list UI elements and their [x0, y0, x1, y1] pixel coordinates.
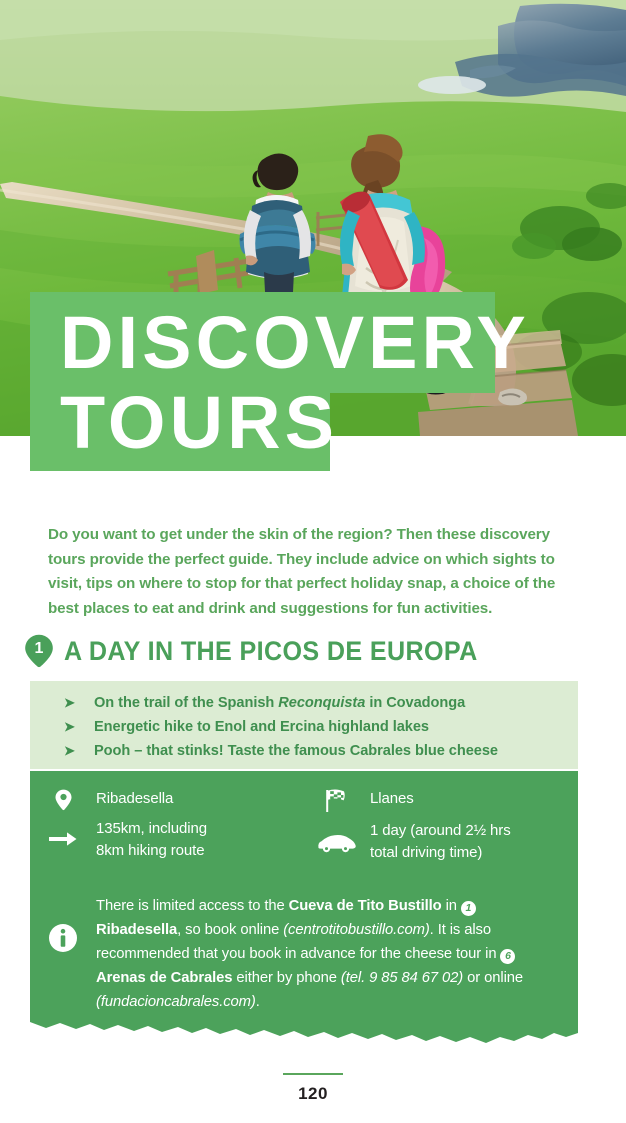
tour-booking-note: There is limited access to the Cueva de …	[30, 895, 578, 1015]
tour-highlights-box: ➤ On the trail of the Spanish Reconquist…	[30, 681, 578, 769]
info-circle-icon	[30, 895, 96, 953]
inline-number-chip-1: 1	[461, 901, 476, 916]
highlight-item-text: Energetic hike to Enol and Ercina highla…	[94, 716, 429, 738]
arrow-right-glyph	[49, 831, 77, 847]
map-pin-number: 1	[24, 636, 54, 662]
map-pin-icon: 1	[24, 634, 54, 668]
tour-facts-right-column: Llanes 1 day (around 2½ hrs	[304, 787, 578, 869]
fact-distance: 135km, including 8km hiking route	[30, 817, 304, 861]
footer-divider	[283, 1073, 343, 1075]
fact-finish-point: Llanes	[304, 787, 578, 813]
checkered-flag-glyph	[324, 789, 350, 813]
car-glyph	[317, 833, 357, 853]
tour-section-title: A Day in the Picos de Europa	[64, 636, 478, 667]
fact-distance-text: 135km, including 8km hiking route	[96, 817, 207, 861]
fact-finish-label: Llanes	[370, 787, 414, 810]
fact-start-point: Ribadesella	[30, 787, 304, 811]
fact-duration-line2: total driving time)	[370, 844, 482, 861]
highlight-item-text: Pooh – that stinks! Taste the famous Cab…	[94, 740, 498, 762]
map-pin-icon	[30, 787, 96, 811]
highlight-item: ➤ On the trail of the Spanish Reconquist…	[30, 692, 578, 714]
page-title-tours: TOURS	[30, 374, 330, 471]
tour-section-heading: 1 A Day in the Picos de Europa	[24, 634, 509, 668]
bullet-arrow-icon: ➤	[64, 717, 94, 737]
highlight-item-text: On the trail of the Spanish Reconquista …	[94, 692, 465, 714]
tour-booking-note-text: There is limited access to the Cueva de …	[96, 895, 551, 1015]
tour-facts: Ribadesella 135km, including 8km hiking …	[30, 787, 578, 869]
fact-duration: 1 day (around 2½ hrs total driving time)	[304, 819, 578, 863]
info-circle-glyph	[48, 923, 78, 953]
fact-distance-line1: 135km, including	[96, 820, 207, 837]
inline-number-chip-6: 6	[500, 949, 515, 964]
tour-info-panel: Ribadesella 135km, including 8km hiking …	[30, 771, 578, 1047]
map-pin-glyph	[55, 789, 72, 811]
highlight-item: ➤ Pooh – that stinks! Taste the famous C…	[30, 740, 578, 762]
intro-paragraph: Do you want to get under the skin of the…	[48, 523, 583, 622]
highlight-item: ➤ Energetic hike to Enol and Ercina high…	[30, 716, 578, 738]
checkered-flag-icon	[304, 787, 370, 813]
bullet-arrow-icon: ➤	[64, 741, 94, 761]
bullet-arrow-icon: ➤	[64, 693, 94, 713]
fact-duration-text: 1 day (around 2½ hrs total driving time)	[370, 819, 511, 863]
tour-facts-left-column: Ribadesella 135km, including 8km hiking …	[30, 787, 304, 869]
fact-start-label: Ribadesella	[96, 787, 173, 810]
car-icon	[304, 819, 370, 853]
fact-distance-line2: 8km hiking route	[96, 842, 204, 859]
page-footer: 120	[0, 1073, 626, 1104]
fact-duration-line1: 1 day (around 2½ hrs	[370, 822, 511, 839]
page-number: 120	[298, 1084, 328, 1104]
arrow-right-icon	[30, 817, 96, 847]
